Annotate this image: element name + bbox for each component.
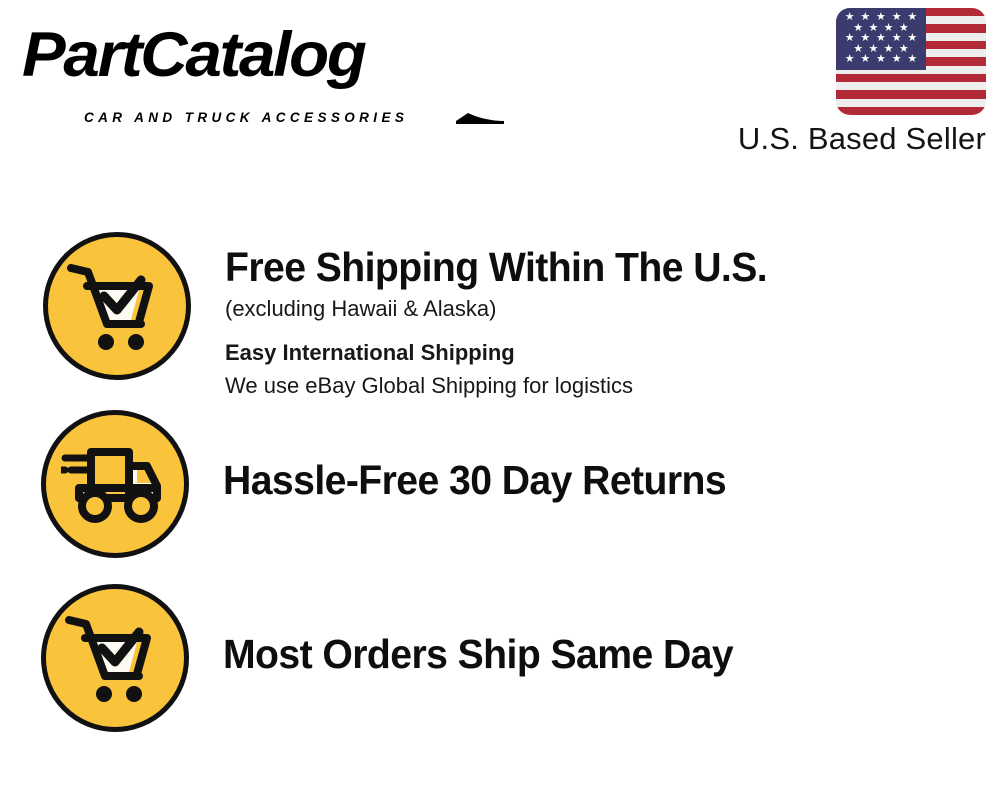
flag-stars: ★ ★ ★ ★ ★ ★ ★ ★ ★ ★ ★ ★ [836, 8, 926, 70]
star-icon: ★ [892, 34, 902, 43]
us-based-seller-block: ★ ★ ★ ★ ★ ★ ★ ★ ★ ★ ★ ★ [696, 8, 986, 157]
us-flag-icon: ★ ★ ★ ★ ★ ★ ★ ★ ★ ★ ★ ★ [836, 8, 986, 115]
cart-check-glyph [63, 610, 167, 706]
feature-title: Free Shipping Within The U.S. [225, 242, 965, 292]
feature-row: Free Shipping Within The U.S. (excluding… [0, 232, 1000, 402]
flag-star-row: ★ ★ ★ ★ ★ [839, 13, 923, 22]
feature-row: Most Orders Ship Same Day [0, 584, 1000, 732]
brand-tagline-row: CAR AND TRUCK ACCESSORIES [84, 110, 504, 125]
feature-text-block: Free Shipping Within The U.S. (excluding… [225, 232, 1000, 402]
star-icon: ★ [892, 55, 902, 64]
shopping-cart-check-icon [43, 232, 191, 380]
star-icon: ★ [860, 55, 870, 64]
flag-stripe [836, 90, 986, 98]
flag-stripe [836, 82, 986, 90]
brand-tagline: CAR AND TRUCK ACCESSORIES [84, 110, 408, 125]
flag-stripe [836, 107, 986, 115]
feature-row: Hassle-Free 30 Day Returns [0, 410, 1000, 558]
flag-star-row: ★ ★ ★ ★ ★ [839, 34, 923, 43]
logo-swoosh-icon [454, 112, 506, 126]
star-icon: ★ [860, 34, 870, 43]
banner-header: PartCatalog CAR AND TRUCK ACCESSORIES [0, 0, 1000, 175]
feature-title: Most Orders Ship Same Day [223, 629, 965, 679]
feature-sub-heading: Easy International Shipping [225, 336, 1000, 369]
delivery-truck-icon [41, 410, 189, 558]
flag-stripe [836, 74, 986, 82]
feature-text-block: Hassle-Free 30 Day Returns [223, 410, 1000, 505]
brand-logo: PartCatalog CAR AND TRUCK ACCESSORIES [22, 22, 492, 117]
flag-star-row: ★ ★ ★ ★ ★ [839, 55, 923, 64]
star-icon: ★ [845, 34, 855, 43]
star-icon: ★ [876, 55, 886, 64]
flag-stripe [836, 99, 986, 107]
feature-title: Hassle-Free 30 Day Returns [223, 455, 965, 505]
us-based-seller-label: U.S. Based Seller [738, 121, 986, 157]
star-icon: ★ [845, 55, 855, 64]
star-icon: ★ [907, 34, 917, 43]
feature-text-block: Most Orders Ship Same Day [223, 584, 1000, 679]
brand-wordmark: PartCatalog [22, 22, 365, 88]
shopping-cart-check-icon [41, 584, 189, 732]
star-icon: ★ [876, 34, 886, 43]
shipping-info-banner: PartCatalog CAR AND TRUCK ACCESSORIES [0, 0, 1000, 800]
delivery-truck-glyph [61, 440, 169, 528]
feature-subtitle: (excluding Hawaii & Alaska) [225, 292, 1000, 325]
cart-check-glyph [65, 258, 169, 354]
feature-sub-detail: We use eBay Global Shipping for logistic… [225, 369, 1000, 402]
star-icon: ★ [907, 55, 917, 64]
